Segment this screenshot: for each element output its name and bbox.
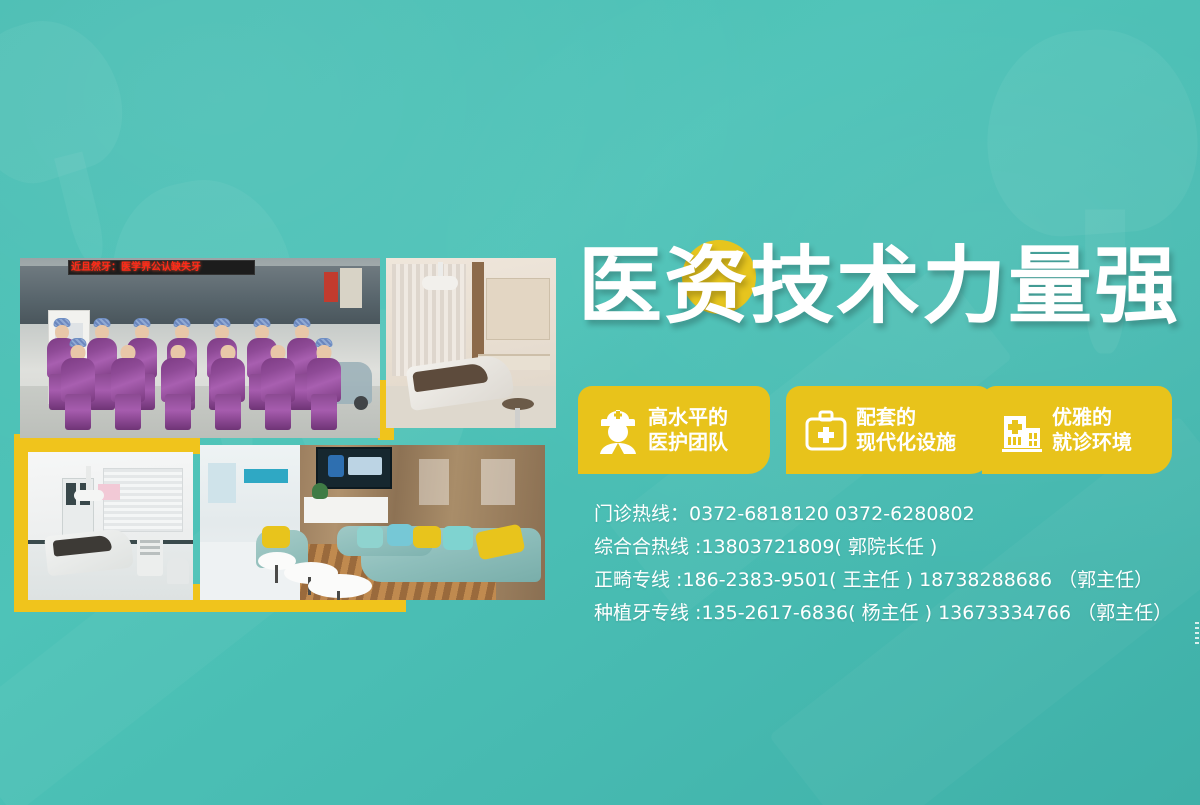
medical-kit-icon (800, 406, 852, 454)
feature-badge-team-line2: 医护团队 (648, 430, 728, 455)
feature-badge-environment-line1: 优雅的 (1052, 405, 1132, 430)
feature-badge-environment-label: 优雅的 就诊环境 (1052, 405, 1132, 455)
feature-badge-facility[interactable]: 配套的 现代化设施 (786, 386, 992, 474)
feature-badge-environment-line2: 就诊环境 (1052, 430, 1132, 455)
led-banner-text: 近且然牙：医学界公认缺失牙 (71, 261, 201, 274)
waiting-lounge-photo (200, 445, 545, 600)
feature-badge-team-label: 高水平的 医护团队 (648, 405, 728, 455)
feature-badge-team-line1: 高水平的 (648, 405, 728, 430)
feature-badge-facility-label: 配套的 现代化设施 (856, 405, 956, 455)
feature-badge-team[interactable]: 高水平的 医护团队 (578, 386, 770, 474)
headline-wrap: 医资技术力量强 (578, 236, 1188, 354)
edge-artifact (1195, 622, 1199, 644)
contact-line-implant: 种植牙专线 :135-2617-6836( 杨主任 ) 13673334766 … (594, 597, 1194, 630)
banner-content: 医资技术力量强 (578, 236, 1188, 354)
feature-badge-facility-line2: 现代化设施 (856, 430, 956, 455)
contact-line-orthodontics: 正畸专线 :186-2383-9501( 王主任 ) 18738288686 （… (594, 564, 1194, 597)
contact-line-outpatient: 门诊热线：0372-6818120 0372-6280802 (594, 498, 1194, 531)
medical-team-photo: 近且然牙：医学界公认缺失牙 (20, 258, 380, 438)
page-title: 医资技术力量强 (578, 236, 1180, 336)
photo-collage: 近且然牙：医学界公认缺失牙 (0, 240, 570, 630)
feature-badge-facility-line1: 配套的 (856, 405, 956, 430)
dental-clinic-banner: 近且然牙：医学界公认缺失牙 (0, 0, 1200, 805)
tooth-watermark-1 (0, 2, 162, 267)
dental-clinic-room-photo (386, 258, 556, 428)
feature-badges: 高水平的 医护团队 配套的 现代化设施 (578, 386, 1188, 478)
dental-chair-equipment-photo (28, 452, 193, 600)
led-banner: 近且然牙：医学界公认缺失牙 (68, 260, 255, 275)
nurse-icon (592, 406, 644, 454)
feature-badge-environment[interactable]: 优雅的 就诊环境 (982, 386, 1172, 474)
contact-line-general: 综合合热线 :13803721809( 郭院长任 ) (594, 531, 1194, 564)
hospital-building-icon (996, 406, 1048, 454)
contact-list: 门诊热线：0372-6818120 0372-6280802 综合合热线 :13… (594, 498, 1194, 630)
